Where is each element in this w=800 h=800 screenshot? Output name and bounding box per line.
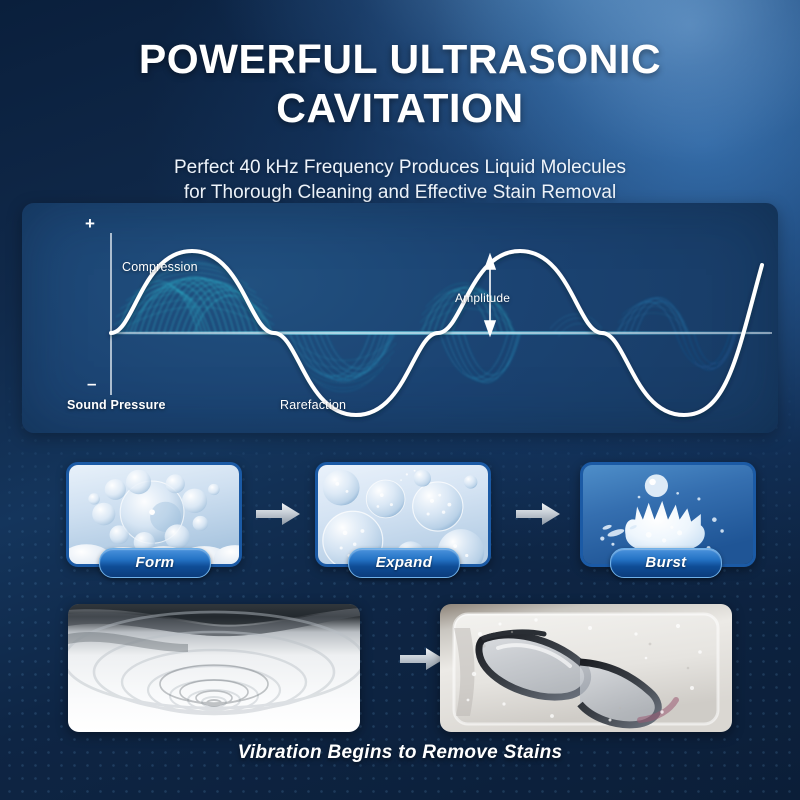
header: POWERFUL ULTRASONIC CAVITATION Perfect 4… xyxy=(0,0,800,205)
water-ripple-photo xyxy=(68,604,360,732)
cyan-mesh-decoration xyxy=(114,263,736,392)
compression-label: Compression xyxy=(122,260,198,274)
axis-plus-sign: + xyxy=(85,219,95,229)
eyeglasses-svg xyxy=(440,604,732,732)
amplitude-label: Amplitude xyxy=(455,291,510,305)
arrow-right-icon xyxy=(516,501,560,527)
sound-pressure-wave-panel: + – Compression Rarefaction Sound Pressu… xyxy=(22,203,778,433)
subtitle-line-2: for Thorough Cleaning and Effective Stai… xyxy=(0,180,800,205)
eyeglasses-in-cleaner-photo xyxy=(440,604,732,732)
subtitle-line-1: Perfect 40 kHz Frequency Produces Liquid… xyxy=(0,155,800,180)
arrow-right-icon xyxy=(256,501,300,527)
arrow-right-icon xyxy=(400,646,444,672)
page-title-line-1: POWERFUL ULTRASONIC xyxy=(0,36,800,82)
stage-label-burst: Burst xyxy=(610,548,722,578)
stage-label-form: Form xyxy=(99,548,211,578)
page-title-line-2: CAVITATION xyxy=(0,85,800,131)
sound-pressure-label: Sound Pressure xyxy=(67,398,166,412)
rarefaction-label: Rarefaction xyxy=(280,398,346,412)
water-ripple-svg xyxy=(68,604,360,732)
stage-label-expand: Expand xyxy=(348,548,460,578)
bottom-caption: Vibration Begins to Remove Stains xyxy=(0,742,800,764)
axis-minus-sign: – xyxy=(87,379,96,389)
infographic-canvas: POWERFUL ULTRASONIC CAVITATION Perfect 4… xyxy=(0,0,800,800)
